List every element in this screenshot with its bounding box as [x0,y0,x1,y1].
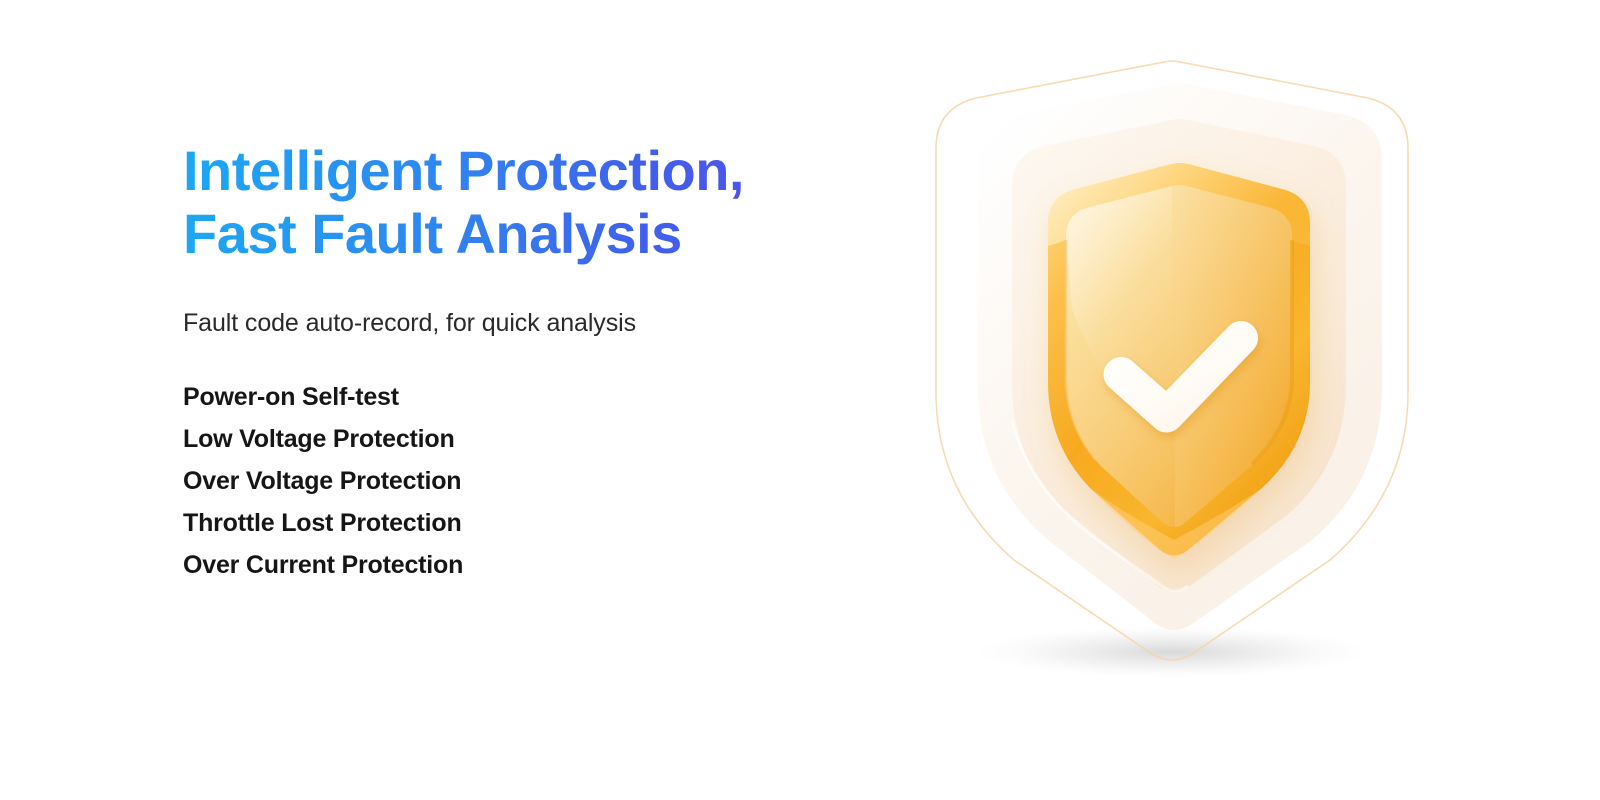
shield-ground-shadow [976,626,1368,678]
hero-text-column: Intelligent Protection, Fast Fault Analy… [183,140,863,586]
feature-list: Power-on Self-test Low Voltage Protectio… [183,338,863,586]
hero-subtitle: Fault code auto-record, for quick analys… [183,265,863,338]
shield-illustration [900,40,1440,720]
headline-line-2: Fast Fault Analysis [183,203,863,266]
hero-banner: Intelligent Protection, Fast Fault Analy… [0,0,1600,800]
headline-line-1: Intelligent Protection, [183,140,863,203]
list-item: Power-on Self-test [183,376,863,418]
page-title: Intelligent Protection, Fast Fault Analy… [183,140,863,265]
list-item: Over Voltage Protection [183,460,863,502]
list-item: Throttle Lost Protection [183,502,863,544]
list-item: Over Current Protection [183,544,863,586]
list-item: Low Voltage Protection [183,418,863,460]
